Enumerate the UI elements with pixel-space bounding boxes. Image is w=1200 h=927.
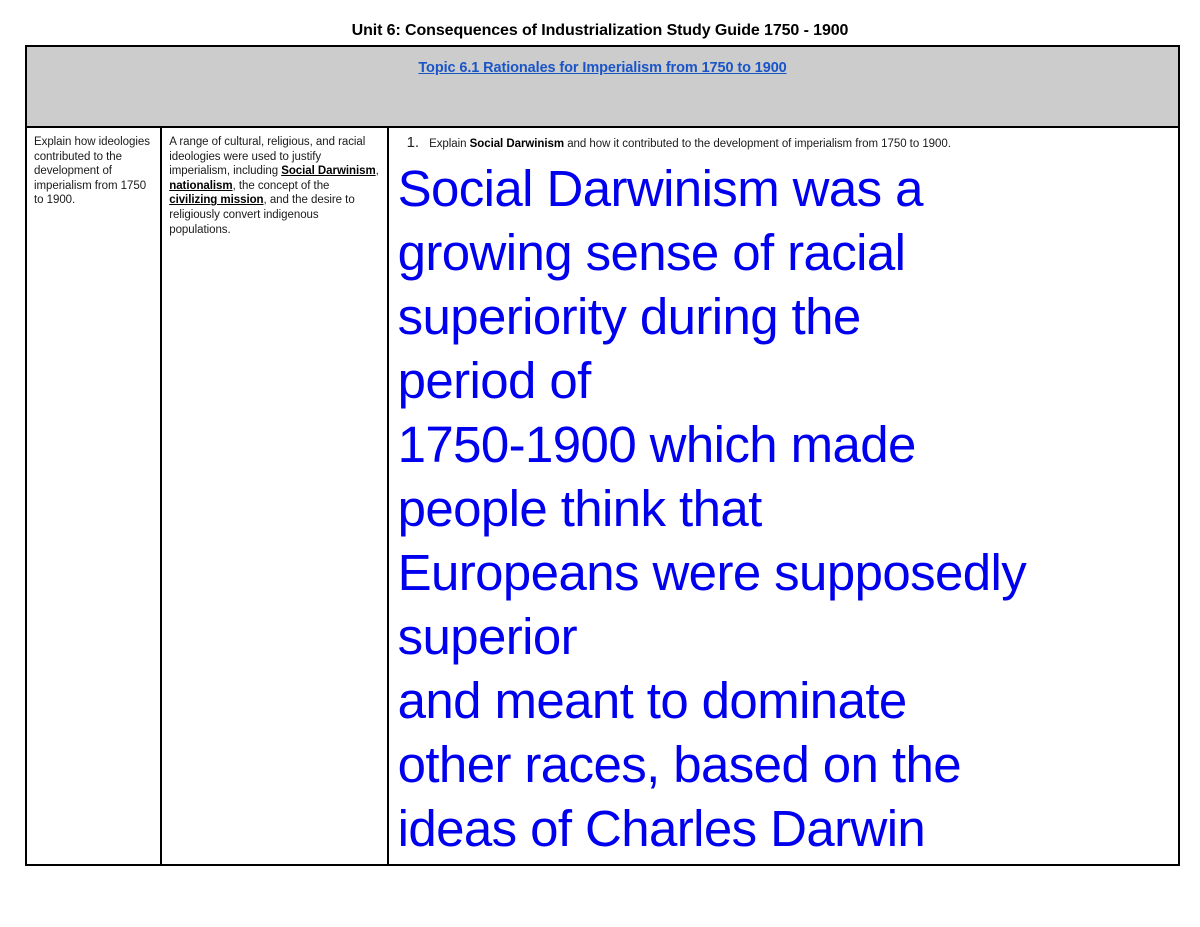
key-concept-part-2: , xyxy=(376,165,379,177)
key-term-social-darwinism: Social Darwinism xyxy=(281,165,375,177)
answer-cell[interactable]: 1. Explain Social Darwinism and how it c… xyxy=(388,127,1179,865)
key-term-nationalism: nationalism xyxy=(169,180,232,192)
topic-header-cell: Topic 6.1 Rationales for Imperialism fro… xyxy=(26,46,1179,127)
learning-objective-text: Explain how ideologies contributed to th… xyxy=(27,128,160,214)
topic-link[interactable]: Topic 6.1 Rationales for Imperialism fro… xyxy=(418,60,786,76)
question-bold-term: Social Darwinism xyxy=(470,138,564,150)
study-guide-table: Topic 6.1 Rationales for Imperialism fro… xyxy=(25,45,1180,866)
key-concept-part-3: , the concept of the xyxy=(233,180,330,192)
question-line: 1. Explain Social Darwinism and how it c… xyxy=(389,128,1178,151)
key-concept-text: A range of cultural, religious, and raci… xyxy=(162,128,386,243)
key-concept-cell: A range of cultural, religious, and raci… xyxy=(161,127,387,865)
question-text: Explain Social Darwinism and how it cont… xyxy=(429,138,951,150)
page-title: Unit 6: Consequences of Industrializatio… xyxy=(0,21,1200,40)
question-prefix: Explain xyxy=(429,138,470,150)
key-term-civilizing-mission: civilizing mission xyxy=(169,194,263,206)
question-suffix: and how it contributed to the developmen… xyxy=(564,138,951,150)
table-row: Explain how ideologies contributed to th… xyxy=(26,127,1179,865)
answer-text[interactable]: Social Darwinism was a growing sense of … xyxy=(398,157,1198,861)
learning-objective-cell: Explain how ideologies contributed to th… xyxy=(26,127,161,865)
topic-header-row: Topic 6.1 Rationales for Imperialism fro… xyxy=(26,46,1179,127)
question-number: 1. xyxy=(407,134,420,151)
